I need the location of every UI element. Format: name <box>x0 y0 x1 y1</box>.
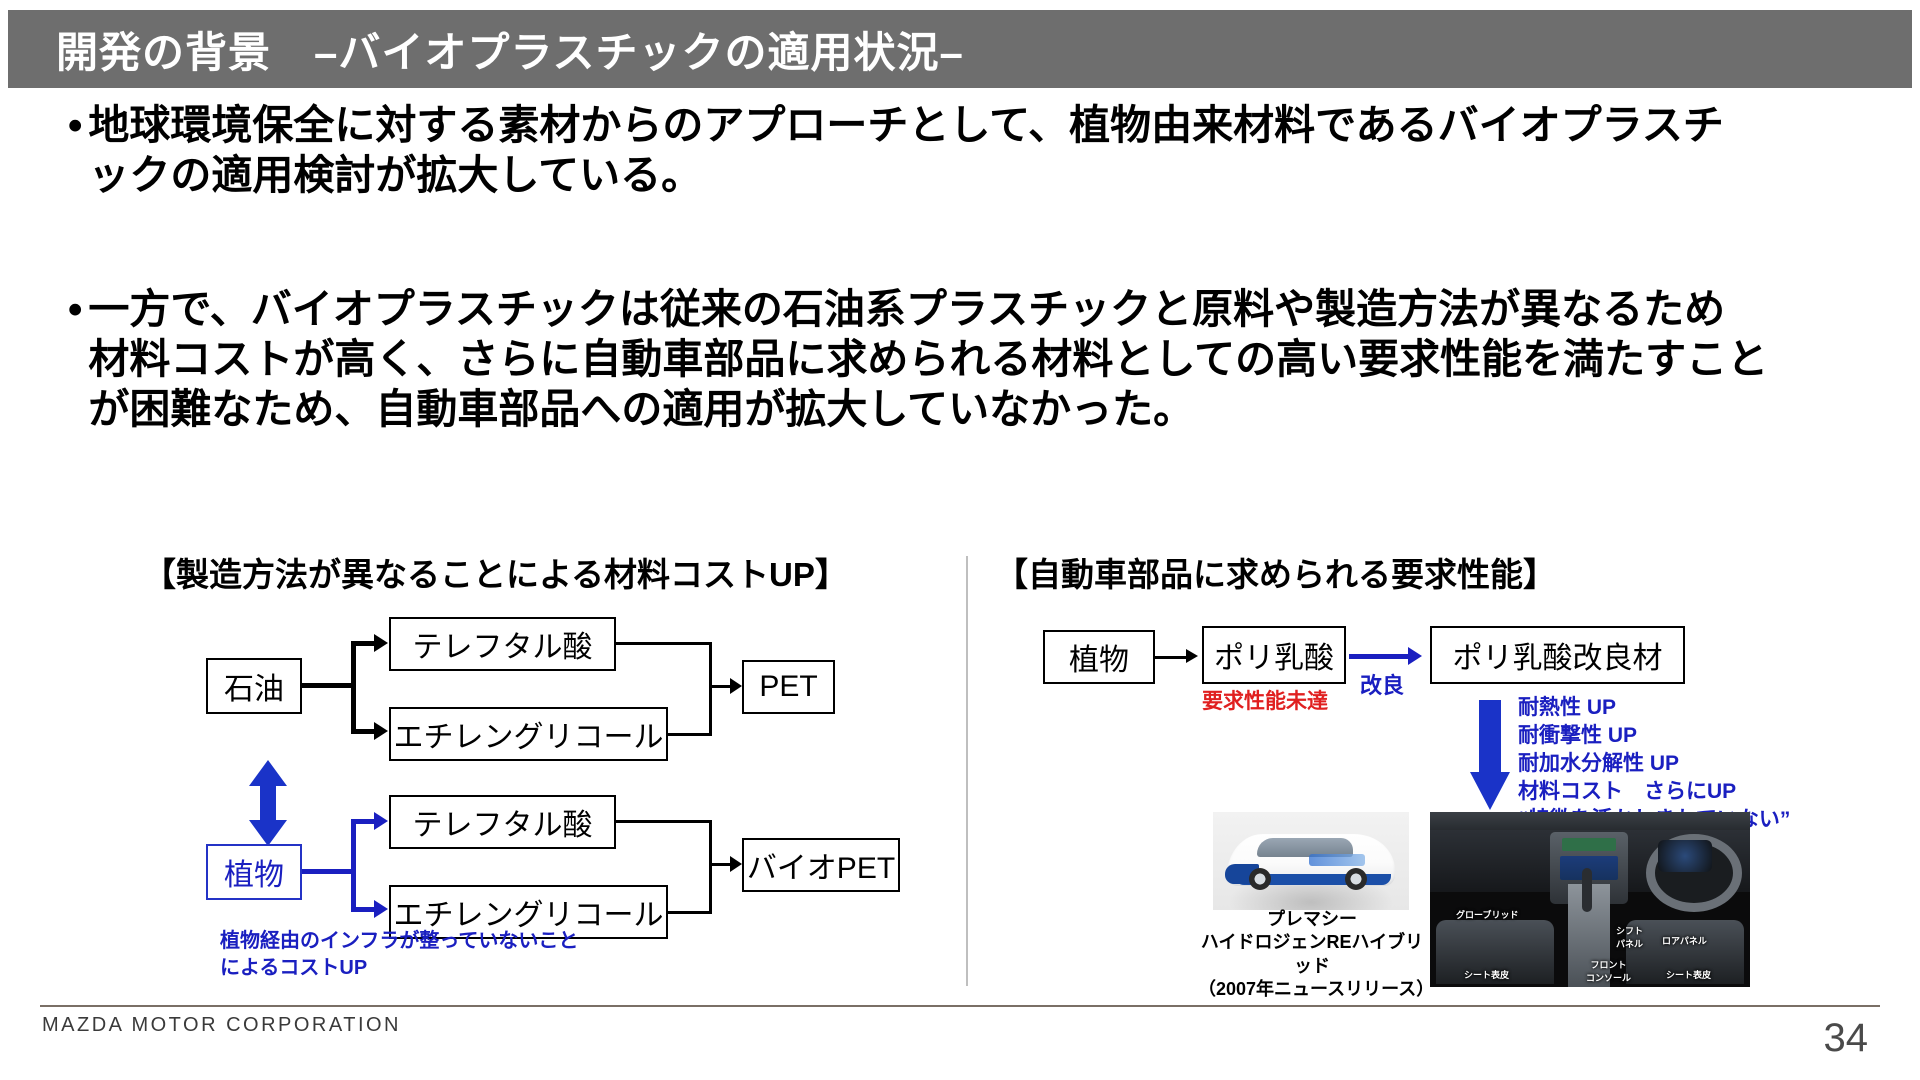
box-polylactic-acid: ポリ乳酸 <box>1202 626 1346 684</box>
box-ethylene-glycol-top: エチレングリコール <box>389 707 668 761</box>
left-panel-title: 【製造方法が異なることによる材料コストUP】 <box>143 548 848 596</box>
bullet-marker: • <box>68 284 82 334</box>
box-pet: PET <box>742 660 835 714</box>
arrow-head-icon <box>1408 647 1422 665</box>
box-plant-right: 植物 <box>1043 630 1155 684</box>
box-bio-pet: バイオPET <box>742 838 900 892</box>
connector-line <box>616 820 712 823</box>
arrow-head-icon <box>374 722 388 740</box>
connector-line <box>709 820 712 914</box>
improvement-label: 改良 <box>1360 668 1404 700</box>
arrow-head-icon <box>374 812 388 830</box>
box-plant-left: 植物 <box>206 844 302 900</box>
unmet-requirement-note: 要求性能未達 <box>1202 688 1328 716</box>
interior-label-shift-panel: シフト パネル <box>1616 924 1643 950</box>
vehicle-photo-caption: プレマシー ハイドロジェンREハイブリッド （2007年ニュースリリース） <box>1198 908 1426 1002</box>
connector-line <box>668 733 712 736</box>
bidirectional-arrow-icon <box>247 760 289 846</box>
box-petroleum: 石油 <box>206 658 302 714</box>
footer-brand: MAZDA MOTOR CORPORATION <box>42 1014 401 1037</box>
connector-line <box>351 907 375 912</box>
footer-divider <box>40 1005 1880 1007</box>
right-panel-title: 【自動車部品に求められる要求性能】 <box>995 548 1556 596</box>
arrow-head-icon <box>374 634 388 652</box>
arrow-head-icon <box>730 678 742 694</box>
panel-divider <box>966 556 968 986</box>
interior-label-front-console: フロント コンソール <box>1586 958 1631 984</box>
bullet-item: • 一方で、バイオプラスチックは従来の石油系プラスチックと原料や製造方法が異なる… <box>68 284 1888 434</box>
arrow-head-icon <box>374 900 388 918</box>
connector-line <box>616 642 712 645</box>
bullet-marker: • <box>68 100 82 150</box>
page-title: 開発の背景 –バイオプラスチックの適用状況– <box>56 19 964 80</box>
connector-line <box>302 683 354 688</box>
bullet-text: 一方で、バイオプラスチックは従来の石油系プラスチックと原料や製造方法が異なるため… <box>88 284 1768 434</box>
box-terephthalic-acid-bottom: テレフタル酸 <box>389 795 616 849</box>
bullet-item: • 地球環境保全に対する素材からのアプローチとして、植物由来材料であるバイオプラ… <box>68 100 1868 200</box>
vehicle-interior-photo: グローブリッド シフト パネル ロアパネル フロント コンソール シート表皮 シ… <box>1430 812 1750 987</box>
left-panel-note: 植物経由のインフラが整っていないこと によるコストUP <box>220 928 578 982</box>
connector-line <box>351 729 375 734</box>
connector-line <box>709 642 712 736</box>
arrow-head-icon <box>730 856 742 872</box>
connector-line <box>1155 656 1189 659</box>
connector-line <box>351 819 375 824</box>
connector-line <box>1349 654 1411 659</box>
connector-line <box>302 869 354 874</box>
connector-line <box>668 911 712 914</box>
page-number: 34 <box>1824 1016 1869 1061</box>
interior-label-glove-lid: グローブリッド <box>1456 908 1518 921</box>
connector-line <box>351 641 375 646</box>
box-terephthalic-acid-top: テレフタル酸 <box>389 617 616 671</box>
interior-label-seat-cover-right: シート表皮 <box>1666 968 1711 981</box>
arrow-head-icon <box>1186 649 1198 663</box>
interior-label-lower-panel: ロアパネル <box>1662 934 1707 947</box>
connector-line <box>351 644 356 732</box>
box-improved-polylactic-acid: ポリ乳酸改良材 <box>1430 626 1685 684</box>
connector-line <box>351 820 356 912</box>
down-arrow-icon <box>1470 700 1510 810</box>
premacy-vehicle-photo <box>1213 812 1409 910</box>
slide-title-bar: 開発の背景 –バイオプラスチックの適用状況– <box>8 10 1912 88</box>
bullet-text: 地球環境保全に対する素材からのアプローチとして、植物由来材料であるバイオプラスチ… <box>88 100 1724 200</box>
interior-label-seat-cover-left: シート表皮 <box>1464 968 1509 981</box>
